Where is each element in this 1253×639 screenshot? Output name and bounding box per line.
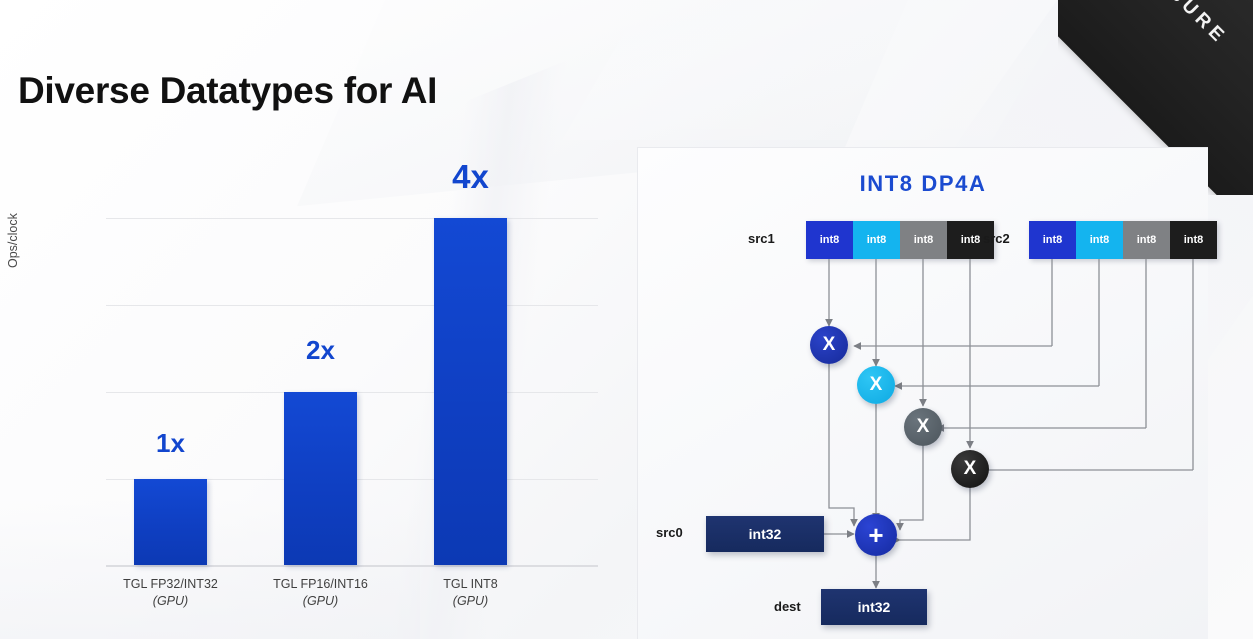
gridline-3 bbox=[106, 305, 598, 306]
category-label-0-sub: (GPU) bbox=[90, 593, 251, 610]
bar-value-tgl-fp16-int16: 2x bbox=[284, 335, 357, 366]
bar-value-tgl-fp32-int32: 1x bbox=[134, 428, 207, 459]
multiply-node-0[interactable]: X bbox=[810, 326, 848, 364]
int8-dp4a-panel: INT8 DP4A bbox=[637, 147, 1208, 639]
slide-canvas: Diverse Datatypes for AI NEW DISCLOSURE … bbox=[0, 0, 1253, 639]
category-label-2-sub: (GPU) bbox=[390, 593, 551, 610]
category-label-1-sub: (GPU) bbox=[240, 593, 401, 610]
category-label-0-main: TGL FP32/INT32 bbox=[123, 577, 218, 591]
page-title: Diverse Datatypes for AI bbox=[18, 70, 437, 112]
multiply-node-3[interactable]: X bbox=[951, 450, 989, 488]
accumulator-int32-box: int32 bbox=[706, 516, 824, 552]
bar-value-tgl-int8: 4x bbox=[434, 158, 507, 196]
dataflow-wires bbox=[638, 148, 1209, 639]
bar-tgl-fp32-int32[interactable] bbox=[134, 479, 207, 565]
bar-tgl-int8[interactable] bbox=[434, 218, 507, 565]
add-node[interactable]: + bbox=[855, 514, 897, 556]
category-label-1-main: TGL FP16/INT16 bbox=[273, 577, 368, 591]
ops-per-clock-bar-chart: 1x 2x 4x TGL FP32/INT32 (GPU) TGL FP16/I… bbox=[26, 200, 616, 620]
destination-int32-box: int32 bbox=[821, 589, 927, 625]
chart-baseline bbox=[106, 565, 598, 567]
category-label-2: TGL INT8 (GPU) bbox=[390, 576, 551, 610]
gridline-4 bbox=[106, 218, 598, 219]
category-label-0: TGL FP32/INT32 (GPU) bbox=[90, 576, 251, 610]
bar-tgl-fp16-int16[interactable] bbox=[284, 392, 357, 565]
category-label-1: TGL FP16/INT16 (GPU) bbox=[240, 576, 401, 610]
category-label-2-main: TGL INT8 bbox=[443, 577, 497, 591]
chart-y-axis-label: Ops/clock bbox=[6, 213, 20, 268]
multiply-node-1[interactable]: X bbox=[857, 366, 895, 404]
multiply-node-2[interactable]: X bbox=[904, 408, 942, 446]
